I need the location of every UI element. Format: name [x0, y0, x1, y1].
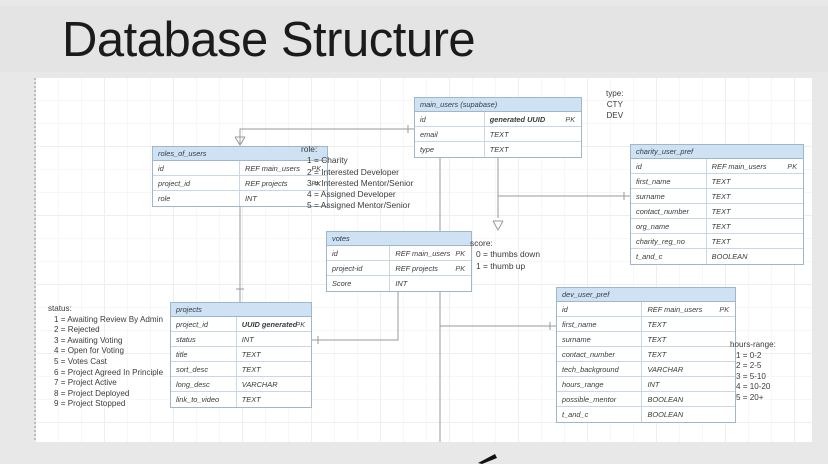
column-name: Score [327, 276, 390, 291]
column-type-text: VARCHAR [647, 365, 683, 374]
column-type-text: REF main_users [647, 305, 702, 314]
column-type-text: INT [647, 380, 659, 389]
legend-score-item: 0 = thumbs down [470, 249, 540, 260]
column-type-text: REF projects [395, 264, 438, 273]
column-type: REF main_users PK [707, 159, 803, 173]
legend-hours-range-item: 4 = 10-20 [730, 382, 776, 393]
column-name: project_id [171, 317, 237, 331]
column-name: long_desc [171, 377, 237, 391]
column-name: first_name [631, 174, 707, 188]
column-key-badge: PK [787, 159, 797, 173]
column-type: BOOLEAN [642, 392, 735, 406]
column-name: role [153, 191, 240, 206]
column-type: VARCHAR [642, 362, 735, 376]
column-type-text: TEXT [242, 365, 261, 374]
column-name: project-id [327, 261, 390, 275]
table-row[interactable]: t_and_c BOOLEAN [631, 249, 803, 264]
column-type-text: generated UUID [490, 115, 545, 124]
legend-role: role: 1 = Charity 2 = Interested Develop… [301, 144, 413, 212]
legend-type-item: DEV [606, 110, 624, 121]
column-key-badge: PK [719, 302, 729, 316]
column-name: possible_mentor [557, 392, 642, 406]
table-row[interactable]: surname TEXT [631, 189, 803, 204]
table-row[interactable]: possible_mentor BOOLEAN [557, 392, 735, 407]
column-type: TEXT [707, 204, 803, 218]
column-type-text: UUID generated [242, 320, 297, 329]
table-header-votes: votes [327, 232, 471, 246]
table-row[interactable]: sort_desc TEXT [171, 362, 311, 377]
column-type: REF main_users PK [390, 246, 471, 260]
legend-status: status: 1 = Awaiting Review By Admin 2 =… [48, 304, 163, 410]
column-key-badge: PK [295, 317, 305, 331]
table-row[interactable]: Score INT [327, 276, 471, 291]
column-type: BOOLEAN [642, 407, 735, 422]
legend-status-item: 2 = Rejected [48, 325, 163, 336]
legend-status-item: 1 = Awaiting Review By Admin [48, 315, 163, 326]
table-row[interactable]: link_to_video TEXT [171, 392, 311, 407]
column-type-text: TEXT [712, 222, 731, 231]
table-row[interactable]: id REF main_users PK [631, 159, 803, 174]
column-type-text: INT [245, 194, 257, 203]
column-name: t_and_c [631, 249, 707, 264]
table-row[interactable]: id REF main_users PK [557, 302, 735, 317]
table-row[interactable]: first_name TEXT [557, 317, 735, 332]
legend-role-title: role: [301, 144, 413, 155]
column-type-text: BOOLEAN [647, 410, 683, 419]
legend-role-item: 1 = Charity [301, 155, 413, 166]
column-type-text: INT [395, 279, 407, 288]
legend-type: type: CTY DEV [606, 88, 624, 121]
column-type: TEXT [485, 142, 581, 157]
column-name: email [415, 127, 485, 141]
column-name: first_name [557, 317, 642, 331]
column-name: link_to_video [171, 392, 237, 407]
column-type-text: TEXT [490, 130, 509, 139]
column-type: INT [642, 377, 735, 391]
column-name: contact_number [631, 204, 707, 218]
legend-hours-range-title: hours-range: [730, 340, 776, 351]
legend-role-item: 3 = Interested Mentor/Senior [301, 178, 413, 189]
column-type: TEXT [707, 189, 803, 203]
legend-hours-range-item: 1 = 0-2 [730, 351, 776, 362]
page-title: Database Structure [62, 10, 475, 70]
column-type: TEXT [642, 317, 735, 331]
column-name: sort_desc [171, 362, 237, 376]
table-row[interactable]: title TEXT [171, 347, 311, 362]
column-type: generated UUID PK [485, 112, 581, 126]
column-type-text: INT [242, 335, 254, 344]
column-type: TEXT [707, 174, 803, 188]
legend-status-title: status: [48, 304, 163, 315]
legend-score-item: 1 = thumb up [470, 261, 540, 272]
column-name: charity_reg_no [631, 234, 707, 248]
column-type-text: TEXT [242, 350, 261, 359]
table-projects[interactable]: projects project_id UUID generated PK st… [170, 302, 312, 408]
column-name: id [415, 112, 485, 126]
legend-status-item: 6 = Project Agreed In Principle [48, 368, 163, 379]
legend-role-item: 2 = Interested Developer [301, 167, 413, 178]
table-row[interactable]: contact_number TEXT [631, 204, 803, 219]
table-row[interactable]: long_desc VARCHAR [171, 377, 311, 392]
column-type-text: REF projects [245, 179, 288, 188]
column-type: TEXT [237, 362, 311, 376]
column-type-text: TEXT [647, 335, 666, 344]
column-key-badge: PK [565, 112, 575, 126]
column-name: surname [631, 189, 707, 203]
legend-status-item: 3 = Awaiting Voting [48, 336, 163, 347]
column-name: title [171, 347, 237, 361]
column-type: TEXT [642, 332, 735, 346]
legend-hours-range: hours-range: 1 = 0-2 2 = 2-5 3 = 5-10 4 … [730, 340, 776, 404]
column-type-text: VARCHAR [242, 380, 278, 389]
column-type: TEXT [237, 392, 311, 407]
column-type-text: TEXT [242, 395, 261, 404]
legend-hours-range-item: 5 = 20+ [730, 393, 776, 404]
column-name: id [557, 302, 642, 316]
table-row[interactable]: tech_background VARCHAR [557, 362, 735, 377]
column-name: project_id [153, 176, 240, 190]
legend-score: score: 0 = thumbs down 1 = thumb up [470, 238, 540, 272]
legend-type-item: CTY [606, 99, 624, 110]
column-type-text: TEXT [647, 350, 666, 359]
column-type-text: TEXT [712, 237, 731, 246]
column-type: BOOLEAN [707, 249, 803, 264]
table-votes[interactable]: votes id REF main_users PK project-id RE… [326, 231, 472, 292]
column-name: hours_range [557, 377, 642, 391]
column-type: REF main_users PK [642, 302, 735, 316]
column-key-badge: PK [455, 246, 465, 260]
column-type: TEXT [707, 234, 803, 248]
table-row[interactable]: id REF main_users PK [327, 246, 471, 261]
table-row[interactable]: type TEXT [415, 142, 581, 157]
table-charity_user_pref[interactable]: charity_user_pref id REF main_users PK f… [630, 144, 804, 265]
legend-status-item: 4 = Open for Voting [48, 346, 163, 357]
slide-title-bar: Database Structure [0, 6, 828, 72]
table-row[interactable]: contact_number TEXT [557, 347, 735, 362]
column-name: tech_background [557, 362, 642, 376]
table-row[interactable]: charity_reg_no TEXT [631, 234, 803, 249]
table-header-dev_user_pref: dev_user_pref [557, 288, 735, 302]
table-row[interactable]: email TEXT [415, 127, 581, 142]
table-dev_user_pref[interactable]: dev_user_pref id REF main_users PK first… [556, 287, 736, 423]
legend-score-title: score: [470, 238, 540, 249]
table-row[interactable]: id generated UUID PK [415, 112, 581, 127]
column-type-text: REF main_users [245, 164, 300, 173]
table-row[interactable]: project_id UUID generated PK [171, 317, 311, 332]
legend-hours-range-item: 3 = 5-10 [730, 372, 776, 383]
column-name: org_name [631, 219, 707, 233]
column-key-badge: PK [455, 261, 465, 275]
column-type-text: TEXT [712, 177, 731, 186]
table-header-main_users: main_users (supabase) [415, 98, 581, 112]
column-type: UUID generated PK [237, 317, 311, 331]
column-type-text: TEXT [712, 192, 731, 201]
column-type: TEXT [707, 219, 803, 233]
legend-role-item: 5 = Assigned Mentor/Senior [301, 200, 413, 211]
table-row[interactable]: org_name TEXT [631, 219, 803, 234]
column-type-text: TEXT [490, 145, 509, 154]
column-name: id [631, 159, 707, 173]
column-type: INT [237, 332, 311, 346]
column-name: type [415, 142, 485, 157]
table-main_users[interactable]: main_users (supabase) id generated UUID … [414, 97, 582, 158]
column-type: REF projects PK [390, 261, 471, 275]
column-name: status [171, 332, 237, 346]
column-type-text: REF main_users [395, 249, 450, 258]
mouse-cursor-icon [477, 452, 499, 464]
column-name: t_and_c [557, 407, 642, 422]
column-type-text: BOOLEAN [647, 395, 683, 404]
legend-role-item: 4 = Assigned Developer [301, 189, 413, 200]
diagram-canvas[interactable]: roles_of_users id REF main_users PK proj… [36, 78, 812, 442]
column-type: VARCHAR [237, 377, 311, 391]
legend-status-item: 5 = Votes Cast [48, 357, 163, 368]
table-row[interactable]: hours_range INT [557, 377, 735, 392]
column-type-text: TEXT [647, 320, 666, 329]
column-type-text: REF main_users [712, 162, 767, 171]
legend-type-title: type: [606, 88, 624, 99]
column-name: id [327, 246, 390, 260]
table-row[interactable]: status INT [171, 332, 311, 347]
column-name: id [153, 161, 240, 175]
table-row[interactable]: surname TEXT [557, 332, 735, 347]
table-header-projects: projects [171, 303, 311, 317]
column-type-text: TEXT [712, 207, 731, 216]
column-type: TEXT [485, 127, 581, 141]
legend-status-item: 7 = Project Active [48, 378, 163, 389]
column-type: TEXT [642, 347, 735, 361]
legend-hours-range-item: 2 = 2-5 [730, 361, 776, 372]
table-row[interactable]: project-id REF projects PK [327, 261, 471, 276]
legend-status-item: 8 = Project Deployed [48, 389, 163, 400]
table-header-charity_user_pref: charity_user_pref [631, 145, 803, 159]
column-type: INT [390, 276, 471, 291]
legend-status-item: 9 = Project Stopped [48, 399, 163, 410]
column-type: TEXT [237, 347, 311, 361]
column-name: surname [557, 332, 642, 346]
column-type-text: BOOLEAN [712, 252, 748, 261]
table-row[interactable]: first_name TEXT [631, 174, 803, 189]
table-row[interactable]: t_and_c BOOLEAN [557, 407, 735, 422]
column-name: contact_number [557, 347, 642, 361]
